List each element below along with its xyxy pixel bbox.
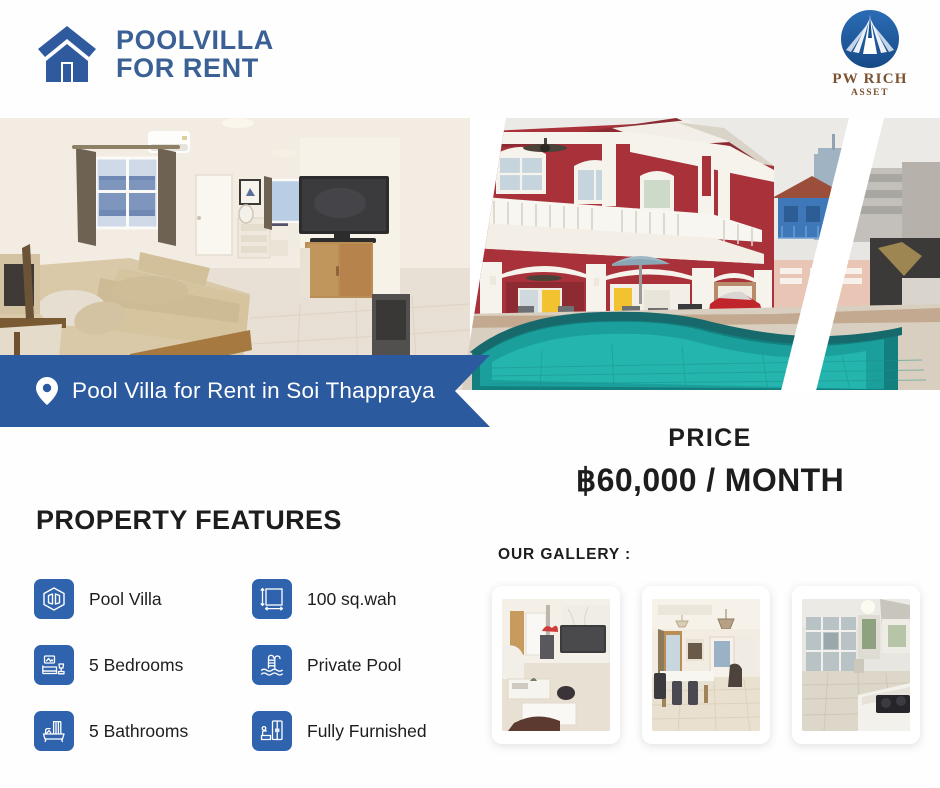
feature-label: 5 Bedrooms: [89, 655, 183, 676]
gallery-thumb-dining-room: [652, 599, 760, 731]
brand: POOLVILLA FOR RENT: [36, 24, 274, 84]
area-dimension-icon: [252, 579, 292, 619]
hero-images: [0, 118, 940, 390]
feature-bathrooms: 5 Bathrooms: [34, 711, 252, 751]
feature-bedrooms: 5 Bedrooms: [34, 645, 252, 685]
gallery: [492, 586, 920, 744]
feature-label: Private Pool: [307, 655, 401, 676]
features-heading: PROPERTY FEATURES: [36, 505, 342, 536]
price-block: PRICE ฿60,000 / MONTH: [480, 424, 940, 499]
brand-line-1: POOLVILLA: [116, 26, 274, 54]
gallery-heading: OUR GALLERY :: [498, 546, 631, 564]
company-logo: PW RICH ASSET: [822, 8, 918, 98]
feature-label: Pool Villa: [89, 589, 162, 610]
feature-pool-villa: Pool Villa: [34, 579, 252, 619]
bed-icon: [34, 645, 74, 685]
gallery-thumb-living-room: [502, 599, 610, 731]
tower-emblem-icon: [839, 8, 901, 70]
header: POOLVILLA FOR RENT PW RIC: [0, 0, 940, 118]
furniture-icon: [252, 711, 292, 751]
house-icon: [36, 24, 98, 84]
house-cube-icon: [34, 579, 74, 619]
feature-private-pool: Private Pool: [252, 645, 470, 685]
bathtub-icon: [34, 711, 74, 751]
gallery-card[interactable]: [642, 586, 770, 744]
logo-name: PW RICH: [822, 71, 918, 88]
price-label: PRICE: [480, 424, 940, 453]
feature-label: Fully Furnished: [307, 721, 427, 742]
features-grid: Pool Villa 100 sq.wah: [34, 566, 474, 764]
gallery-thumb-kitchen: [802, 599, 910, 731]
pool-ladder-icon: [252, 645, 292, 685]
gallery-card[interactable]: [792, 586, 920, 744]
feature-label: 100 sq.wah: [307, 589, 397, 610]
price-value: ฿60,000 / MONTH: [480, 461, 940, 499]
location-banner: Pool Villa for Rent in Soi Thappraya: [0, 355, 490, 427]
location-title: Pool Villa for Rent in Soi Thappraya: [72, 378, 435, 404]
feature-area: 100 sq.wah: [252, 579, 470, 619]
feature-fully-furnished: Fully Furnished: [252, 711, 470, 751]
hero-photo-villa-pool: [462, 118, 940, 390]
feature-label: 5 Bathrooms: [89, 721, 188, 742]
brand-line-2: FOR RENT: [116, 54, 274, 82]
listing-poster: POOLVILLA FOR RENT PW RIC: [0, 0, 940, 788]
logo-subtitle: ASSET: [822, 88, 918, 98]
map-pin-icon: [36, 377, 58, 405]
gallery-card[interactable]: [492, 586, 620, 744]
hero-photo-bedroom: [0, 118, 470, 390]
